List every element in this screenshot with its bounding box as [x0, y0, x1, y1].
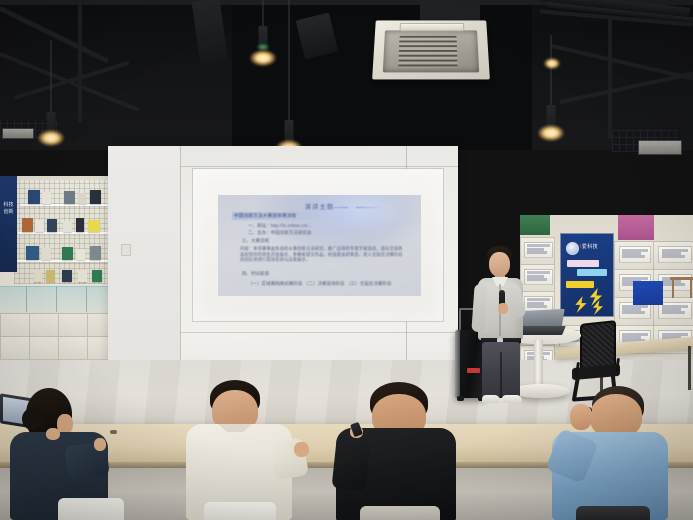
- ac-mount-bracket: [420, 0, 480, 22]
- table-leg: [688, 346, 691, 390]
- blue-panel-accent: [633, 281, 663, 305]
- wall-outlet[interactable]: [121, 244, 131, 256]
- display-book: [78, 270, 87, 282]
- display-book: [63, 221, 72, 232]
- slide-title-rule: [322, 207, 348, 208]
- pendant-glow: [250, 50, 276, 66]
- poster-label-bar: [577, 269, 607, 276]
- slide-paragraph: 内容：本项赛事由各高校从事创新方法研究、推广应用的专家学者组成，面向全国各高校院…: [240, 246, 406, 263]
- poster-label-bar: [566, 281, 594, 288]
- display-book: [92, 270, 102, 282]
- magazine: [658, 302, 692, 319]
- pendant-glow: [538, 125, 564, 141]
- ac-vent-slot: [400, 23, 465, 31]
- presenter-hand: [498, 303, 508, 314]
- display-book: [28, 190, 40, 204]
- audience-hand: [294, 442, 309, 457]
- presenter: [470, 240, 530, 405]
- banner-text: 科技创新: [3, 202, 14, 216]
- audience-member-1: [10, 388, 120, 520]
- cabinet-divider: [86, 286, 87, 312]
- cabinet-door[interactable]: [58, 313, 88, 337]
- ceiling-beam: [560, 71, 693, 104]
- presentation-room-photo: 科技创新: [0, 0, 693, 520]
- pendant-wire: [289, 0, 290, 120]
- audience-hand-on-head: [570, 404, 592, 430]
- display-book: [90, 246, 101, 260]
- poster-label-bar: [567, 260, 599, 267]
- cabinet-door[interactable]: [0, 313, 30, 337]
- display-book: [76, 249, 85, 260]
- pendant-glow: [544, 58, 560, 69]
- pendant-body: [47, 112, 56, 132]
- pendant-light: [278, 0, 300, 150]
- slide-line-3: 三、大赛流程: [242, 238, 269, 244]
- magazine-rack-cell: [653, 241, 693, 270]
- audience-chair[interactable]: [576, 506, 650, 520]
- slide-header-text: 中国创新方法大赛团体赛流程: [234, 213, 296, 219]
- display-book: [78, 193, 86, 204]
- air-conditioner-unit: [372, 20, 490, 79]
- pendant-light: [248, 0, 278, 78]
- cabinet-divider: [56, 286, 57, 312]
- pegboard-panel: [14, 180, 110, 284]
- display-book: [62, 270, 72, 282]
- audience-chair[interactable]: [360, 506, 440, 520]
- pendant-light: [40, 40, 62, 145]
- display-book: [47, 219, 57, 232]
- audience-member-4: [548, 386, 678, 520]
- display-book: [41, 248, 51, 260]
- projected-slide: 演讲主题 中国创新方法大赛团体赛流程 一、网址：http://is.cnhse.…: [218, 195, 421, 296]
- display-cabinet: [0, 286, 110, 361]
- cabinet-glass-top: [0, 286, 110, 314]
- science-poster: I爱科技: [560, 233, 614, 317]
- pendant-body: [285, 120, 294, 142]
- display-book: [34, 270, 42, 282]
- audience-hand: [46, 428, 60, 440]
- stool-leg: [672, 280, 674, 298]
- slide-line-4: 四、时间安排: [242, 271, 269, 277]
- wooden-stool-decor: [670, 277, 693, 299]
- slide-footer: （一）区域赛网络初赛阶段 （二）决赛现场阶段 （三）全国总决赛阶段: [248, 281, 392, 287]
- lightning-bolt-icon: [589, 300, 607, 315]
- audience-member-2: [180, 380, 310, 520]
- audience-chair[interactable]: [204, 502, 276, 520]
- cabinet-door[interactable]: [29, 313, 59, 337]
- display-shelf: [18, 232, 108, 234]
- projector-glare: [311, 195, 417, 231]
- audience-hand: [94, 438, 106, 451]
- pink-wall-panel: [618, 215, 654, 240]
- cabinet-door[interactable]: [58, 336, 88, 360]
- green-wall-panel: [520, 215, 550, 235]
- pendant-body: [547, 105, 556, 127]
- recessed-ceiling-light: [2, 128, 34, 139]
- audience-member-3: [334, 382, 484, 520]
- stool-leg: [690, 280, 692, 298]
- display-book: [26, 246, 39, 260]
- display-book: [76, 218, 84, 232]
- slide-line-1: 一、网址：http://is.cnhse.cn/...: [248, 223, 312, 229]
- display-book: [35, 220, 44, 232]
- ceiling-duct: [192, 0, 229, 66]
- ceiling-post: [608, 18, 612, 138]
- display-book: [64, 191, 75, 204]
- audience-hair-bun: [22, 408, 42, 430]
- display-book: [46, 270, 55, 282]
- pendant-glow: [38, 130, 64, 146]
- slide-title-rule: [356, 207, 382, 208]
- poster-title: I爱科技: [580, 243, 598, 250]
- display-book: [22, 218, 33, 232]
- blue-wall-banner: 科技创新: [0, 176, 17, 272]
- ac-inner-panel: [383, 30, 479, 72]
- slide-header-band: 中国创新方法大赛团体赛流程: [232, 212, 324, 220]
- display-book: [88, 220, 100, 232]
- trouser-leg-split: [500, 352, 502, 398]
- pendant-wire: [263, 0, 264, 26]
- ceiling-post: [78, 0, 82, 122]
- magazine: [619, 246, 651, 263]
- pendant-light: [543, 36, 561, 96]
- presenter-shoe: [502, 395, 522, 403]
- cabinet-door[interactable]: [0, 336, 30, 360]
- presenter-shoe: [482, 395, 500, 403]
- slide-line-2: 二、主办：中国创新方法研究会: [248, 230, 312, 236]
- display-book: [90, 190, 101, 204]
- ac-louvers: [398, 36, 457, 67]
- display-shelf: [20, 204, 108, 206]
- magazine-rack-cell: [614, 241, 654, 270]
- display-book: [62, 247, 73, 260]
- lightning-bolt-icon: [585, 288, 607, 306]
- display-shelf: [16, 260, 108, 262]
- poster-logo-icon: [566, 242, 579, 255]
- ceiling: [0, 0, 693, 150]
- cabinet-divider: [26, 286, 27, 312]
- cabinet-door[interactable]: [29, 336, 59, 360]
- wall-seam: [180, 332, 458, 333]
- audience-arm: [331, 438, 370, 491]
- lightning-bolt-icon: [571, 296, 591, 313]
- magazine: [658, 246, 692, 263]
- audience-chair[interactable]: [58, 498, 124, 520]
- poster-title-text: 爱科技: [582, 244, 598, 250]
- wall-seam: [180, 166, 458, 167]
- display-book: [42, 192, 51, 204]
- pendant-wire: [51, 40, 52, 112]
- recessed-ceiling-light: [638, 140, 682, 155]
